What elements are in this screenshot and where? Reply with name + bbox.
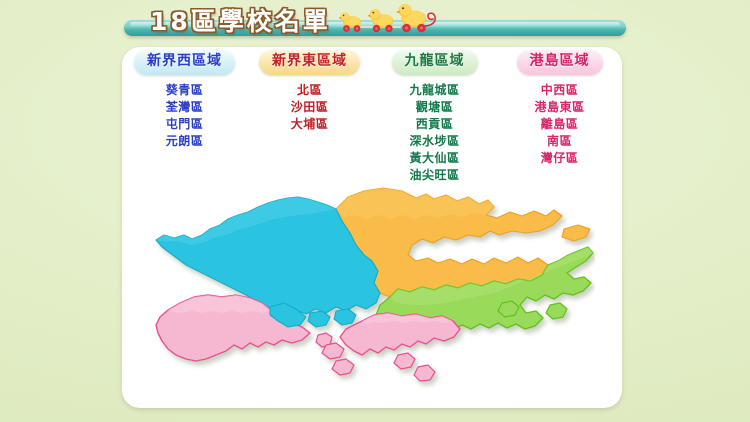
district-list-nt-east: 北區 沙田區 大埔區 (291, 82, 329, 132)
district-item[interactable]: 觀塘區 (416, 99, 454, 115)
district-item[interactable]: 西貢區 (416, 116, 454, 132)
district-item[interactable]: 荃灣區 (166, 99, 204, 115)
district-item[interactable]: 離島區 (541, 116, 579, 132)
district-item[interactable]: 沙田區 (291, 99, 329, 115)
district-item[interactable]: 深水埗區 (409, 133, 459, 149)
district-item[interactable]: 屯門區 (166, 116, 204, 132)
region-header-nt-east[interactable]: 新界東區域 (259, 50, 360, 75)
district-item[interactable]: 北區 (297, 82, 322, 98)
duck-toys-icon (338, 0, 442, 36)
district-item[interactable]: 油尖旺區 (409, 167, 459, 183)
district-item[interactable]: 大埔區 (291, 116, 329, 132)
hong-kong-map[interactable] (150, 185, 595, 400)
district-item[interactable]: 黃大仙區 (409, 150, 459, 166)
region-columns: 新界西區域 葵青區 荃灣區 屯門區 元朗區 新界東區域 北區 沙田區 大埔區 九… (122, 50, 622, 195)
district-item[interactable]: 灣仔區 (541, 150, 579, 166)
district-item[interactable]: 中西區 (541, 82, 579, 98)
district-item[interactable]: 南區 (547, 133, 572, 149)
district-list-hk-island: 中西區 港島東區 離島區 南區 灣仔區 (534, 82, 584, 166)
region-column-hk-island: 港島區域 中西區 港島東區 離島區 南區 灣仔區 (497, 50, 622, 195)
map-inset-nt-east-islet (562, 225, 590, 241)
district-item[interactable]: 元朗區 (166, 133, 204, 149)
region-column-nt-west: 新界西區域 葵青區 荃灣區 屯門區 元朗區 (122, 50, 247, 195)
district-item[interactable]: 港島東區 (534, 99, 584, 115)
region-column-kowloon: 九龍區域 九龍城區 觀塘區 西貢區 深水埗區 黃大仙區 油尖旺區 (372, 50, 497, 195)
district-item[interactable]: 葵青區 (166, 82, 204, 98)
region-header-nt-west[interactable]: 新界西區域 (134, 50, 235, 75)
page-title: 18區學校名單 (150, 2, 331, 38)
region-header-kowloon[interactable]: 九龍區域 (392, 50, 478, 75)
region-header-hk-island[interactable]: 港島區域 (517, 50, 603, 75)
region-column-nt-east: 新界東區域 北區 沙田區 大埔區 (247, 50, 372, 195)
district-item[interactable]: 九龍城區 (409, 82, 459, 98)
district-list-nt-west: 葵青區 荃灣區 屯門區 元朗區 (166, 82, 204, 149)
district-list-kowloon: 九龍城區 觀塘區 西貢區 深水埗區 黃大仙區 油尖旺區 (409, 82, 459, 183)
